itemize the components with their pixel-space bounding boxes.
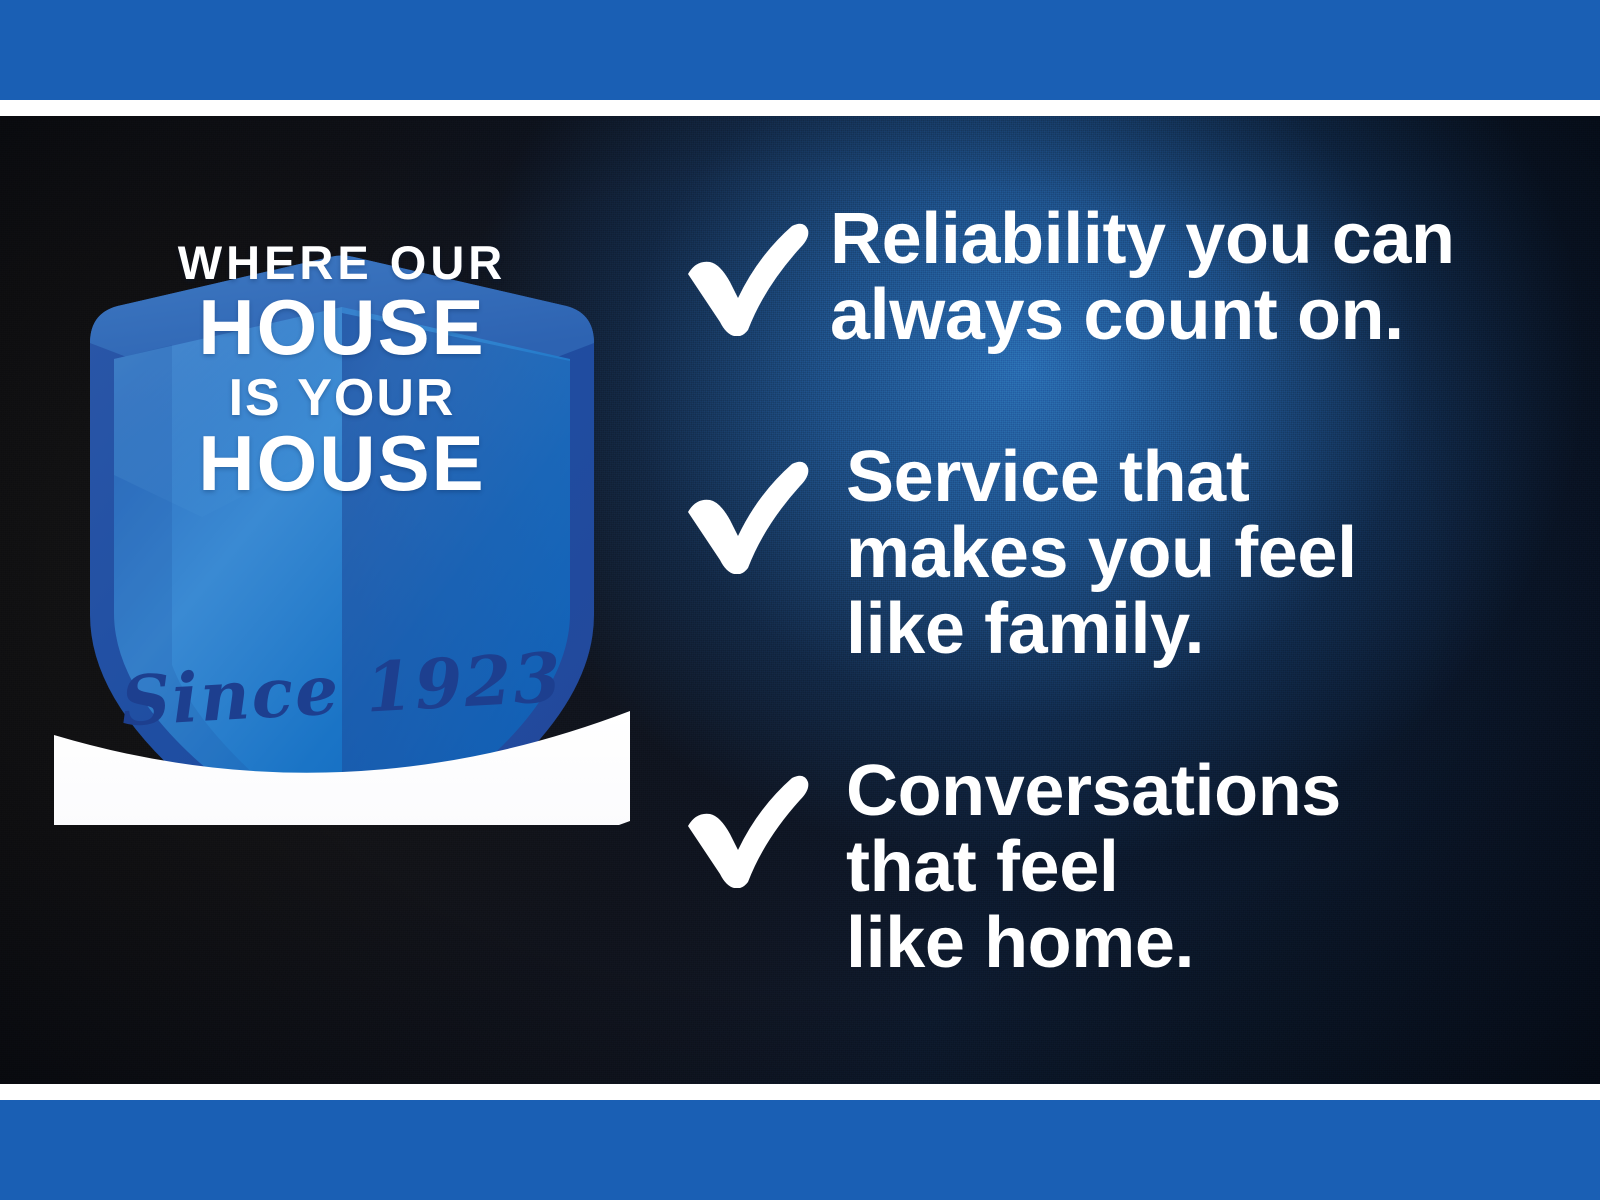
bottom-white-divider [0, 1084, 1600, 1100]
tagline-line-2: HOUSE [52, 291, 632, 364]
benefit-text: Service that makes you feel like family. [812, 438, 1572, 668]
top-brand-bar [0, 0, 1600, 100]
promo-banner: WHERE OUR HOUSE IS YOUR HOUSE Since 1923… [0, 0, 1600, 1200]
shield-tagline: WHERE OUR HOUSE IS YOUR HOUSE [52, 241, 632, 501]
tagline-line-3: IS YOUR [52, 374, 632, 423]
benefit-item: Conversations that feel like home. [672, 752, 1572, 982]
benefit-item: Service that makes you feel like family. [672, 438, 1572, 668]
tagline-line-4: HOUSE [52, 427, 632, 500]
benefit-item: Reliability you can always count on. [672, 200, 1572, 354]
tagline-line-1: WHERE OUR [52, 241, 632, 285]
benefit-text: Conversations that feel like home. [812, 752, 1572, 982]
check-icon [672, 454, 812, 574]
benefits-list: Reliability you can always count on. Ser… [672, 200, 1572, 982]
bottom-brand-bar [0, 1100, 1600, 1200]
top-white-divider [0, 100, 1600, 116]
check-icon [672, 216, 812, 336]
check-icon [672, 768, 812, 888]
benefit-text: Reliability you can always count on. [812, 200, 1572, 354]
shield-logo: WHERE OUR HOUSE IS YOUR HOUSE Since 1923 [52, 145, 632, 825]
